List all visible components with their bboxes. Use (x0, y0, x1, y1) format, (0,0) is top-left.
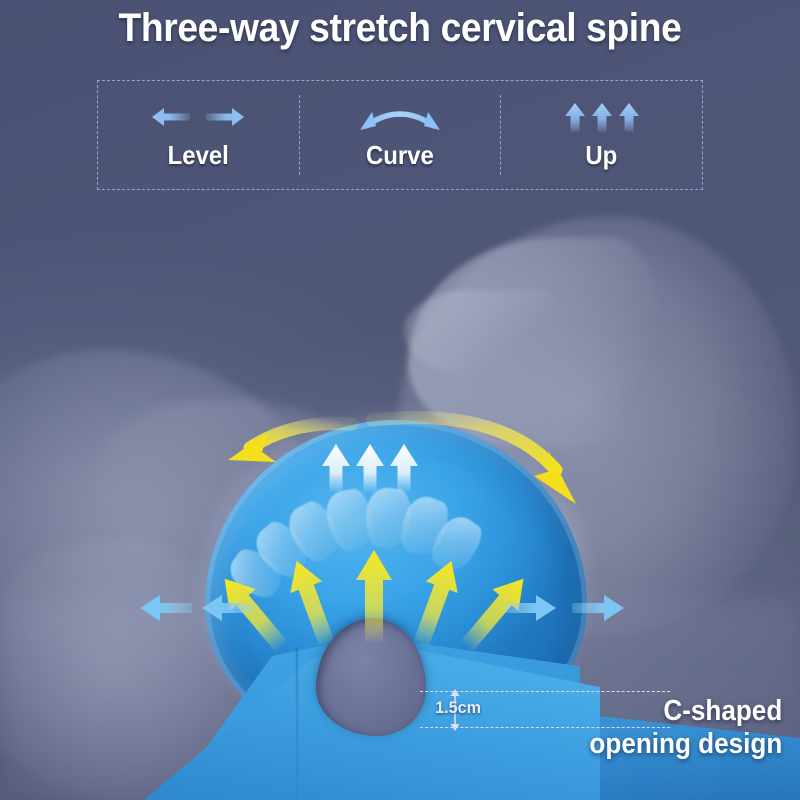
caption-block: C-shaped opening design (589, 695, 782, 760)
cervical-vertebrae-illustration (232, 482, 492, 612)
pillow-seam (296, 648, 298, 800)
product-infographic: Three-way stretch cervical spine (0, 0, 800, 800)
cervical-pillow (0, 0, 800, 800)
caption-line-2: opening design (589, 728, 782, 760)
dimension-value: 1.5cm (435, 698, 481, 718)
caption-line-1: C-shaped (589, 695, 782, 727)
